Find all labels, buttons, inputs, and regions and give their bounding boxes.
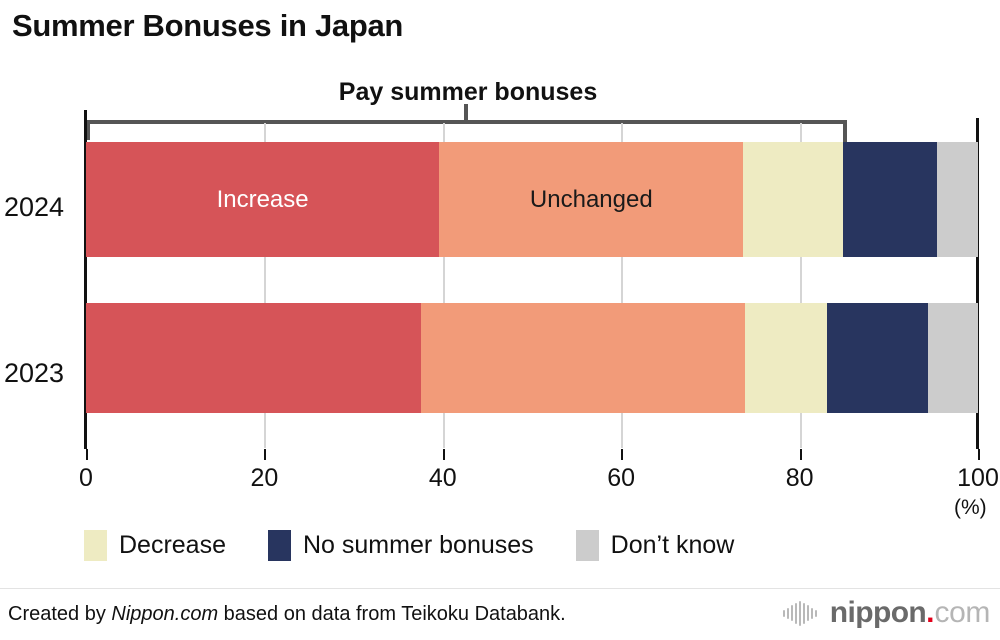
x-tick-mark [86, 449, 88, 460]
bar-segment-unchanged [421, 303, 745, 413]
bar-segment-decrease [745, 303, 827, 413]
plot-area: IncreaseUnchanged [86, 123, 978, 448]
legend-label: Don’t know [611, 531, 735, 560]
legend-item-don-t-know[interactable]: Don’t know [576, 530, 735, 561]
x-tick-mark [264, 449, 266, 460]
sound-bar [795, 603, 797, 624]
bar-row-2024: IncreaseUnchanged [86, 142, 978, 257]
legend-item-decrease[interactable]: Decrease [84, 530, 226, 561]
bar-segment-don-t-know [928, 303, 978, 413]
bar-segment-increase: Increase [86, 142, 439, 257]
sound-bar [783, 610, 785, 617]
page-title: Summer Bonuses in Japan [12, 8, 403, 44]
sound-bar [791, 605, 793, 621]
bracket-annotation-label: Pay summer bonuses [0, 78, 1000, 107]
bar-segment-decrease [743, 142, 843, 257]
legend-swatch-icon [576, 530, 599, 561]
chart-page: Summer Bonuses in Japan Pay summer bonus… [0, 0, 1000, 640]
logo-dot: . [926, 598, 934, 628]
bracket-annotation-text: Pay summer bonuses [339, 78, 597, 106]
x-tick-label-40: 40 [429, 464, 457, 493]
x-tick-label-60: 60 [607, 464, 635, 493]
x-tick-label-100: 100 [957, 464, 999, 493]
bar-row-2023 [86, 303, 978, 413]
x-tick-mark [978, 449, 980, 460]
credit-line: Created by Nippon.com based on data from… [8, 603, 566, 626]
sound-bar [807, 605, 809, 621]
legend-item-no-summer-bonuses[interactable]: No summer bonuses [268, 530, 534, 561]
bracket-pointer-tick [464, 104, 468, 121]
sound-bar [799, 601, 801, 626]
x-tick-mark [443, 449, 445, 460]
logo-tld: com [935, 598, 990, 628]
legend: DecreaseNo summer bonusesDon’t know [84, 530, 776, 561]
footer-divider [0, 588, 1000, 589]
legend-swatch-icon [268, 530, 291, 561]
bar-segment-label-increase: Increase [86, 142, 439, 257]
x-tick-mark [621, 449, 623, 460]
sound-bar [787, 608, 789, 619]
logo-word: nippon [830, 598, 926, 628]
x-tick-label-80: 80 [786, 464, 814, 493]
bar-segment-unchanged: Unchanged [439, 142, 743, 257]
bar-segment-no-summer-bonuses [843, 142, 937, 257]
legend-swatch-icon [84, 530, 107, 561]
legend-label: No summer bonuses [303, 531, 534, 560]
legend-label: Decrease [119, 531, 226, 560]
nippon-logo[interactable]: nippon.com [783, 598, 990, 628]
x-tick-label-20: 20 [250, 464, 278, 493]
x-tick-mark [800, 449, 802, 460]
sound-bars-icon [783, 600, 819, 626]
credit-source-name: Nippon.com [111, 603, 218, 625]
sound-bar [811, 608, 813, 619]
credit-prefix: Created by [8, 603, 111, 625]
sound-bar [803, 603, 805, 624]
bar-segment-no-summer-bonuses [827, 303, 928, 413]
credit-suffix: based on data from Teikoku Databank. [218, 603, 566, 625]
bar-segment-increase [86, 303, 421, 413]
sound-bar [815, 610, 817, 617]
bar-segment-label-unchanged: Unchanged [439, 142, 743, 257]
x-tick-label-0: 0 [79, 464, 93, 493]
x-axis-unit-label: (%) [954, 496, 987, 520]
bar-segment-don-t-know [937, 142, 978, 257]
category-label-2023: 2023 [4, 358, 80, 389]
category-label-2024: 2024 [4, 192, 80, 223]
